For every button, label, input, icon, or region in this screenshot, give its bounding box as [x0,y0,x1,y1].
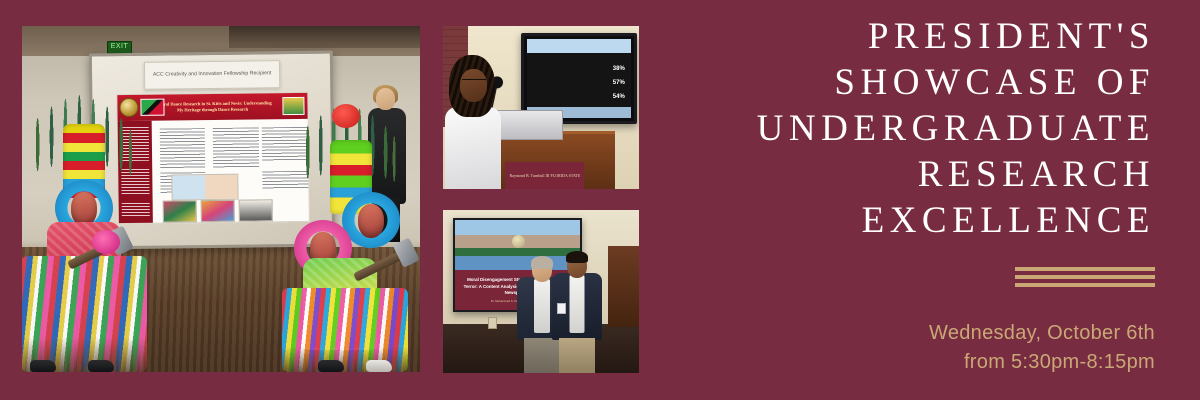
masquerade-dancer-left [22,80,150,372]
event-datetime: Wednesday, October 6th from 5:30pm-8:15p… [929,319,1155,377]
page-title: President's Showcase of Undergraduate Re… [757,14,1155,243]
seal-icon [512,235,525,248]
fellowship-sign-text: ACC Creativity and Innovation Fellowship… [153,69,272,80]
poster-map-figure [171,174,238,201]
wood-door [608,246,639,328]
photo-poster-session: EXIT ACC Creativity and Innovation Fello… [22,26,420,372]
podium-nameplate: Raymond B. Turnbull III FLORIDA STATE [505,162,584,189]
event-banner: EXIT ACC Creativity and Innovation Fello… [0,0,1200,400]
student-speaker [445,55,508,176]
divider-bar-3 [1015,283,1155,287]
slide-content: 38% 57% 54% [527,39,631,118]
glasses-icon [462,79,486,86]
wall-outlet [488,317,497,329]
fellowship-sign: ACC Creativity and Innovation Fellowship… [144,60,280,90]
photo-podium-presentation: 38% 57% 54% Raymond B. Turnbull III FLOR… [443,26,639,189]
divider-bar-2 [1015,275,1155,279]
banner-text-column: President's Showcase of Undergraduate Re… [660,0,1200,400]
slide-stat-2: 57% [613,80,625,86]
divider-bar-1 [1015,267,1155,271]
poster-title: Cultural Dance Research in St. Kitts and… [151,100,273,114]
name-badge [557,303,566,314]
photo-two-presenters: Moral Disengagement Strategies and the W… [443,210,639,373]
ceiling-panel [229,26,420,48]
masquerade-dancer-right [280,100,420,372]
slide-stat-3: 54% [613,94,625,100]
slide-stat-1: 38% [613,66,625,72]
decorative-divider [1015,267,1155,287]
presenter-two [549,252,605,373]
